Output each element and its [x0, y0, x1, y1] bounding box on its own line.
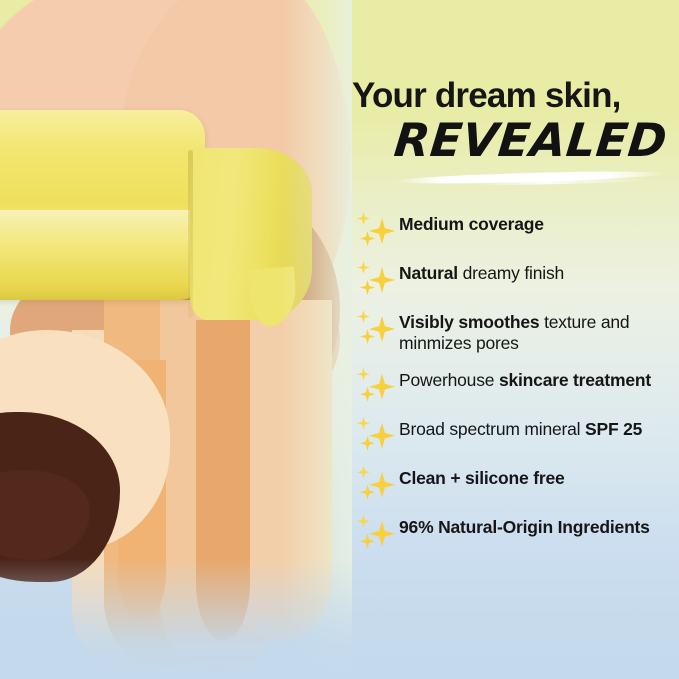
sparkle-icon [355, 517, 399, 551]
sparkle-icon [355, 370, 399, 404]
headline-line-1: Your dream skin, [352, 78, 679, 115]
sparkle-icon [355, 312, 399, 346]
product-tube-body [0, 110, 205, 300]
benefit-text: Clean + silicone free [399, 466, 565, 489]
sparkle-icon [355, 468, 399, 502]
list-item: Clean + silicone free [355, 466, 679, 502]
photo-bottom-fade [0, 559, 352, 679]
benefit-text: 96% Natural-Origin Ingredients [399, 515, 650, 538]
product-tube-highlight [0, 210, 205, 244]
product-cap-seam [188, 150, 193, 318]
benefit-regular: Broad spectrum mineral [399, 419, 585, 439]
product-marketing-image: Your dream skin, REVEALED Medium coverag… [0, 0, 679, 679]
headline-line-2: REVEALED [350, 117, 679, 163]
list-item: Medium coverage [355, 212, 679, 248]
benefit-text: Visibly smoothes texture and minmizes po… [399, 310, 679, 355]
benefit-bold: SPF 25 [585, 419, 642, 439]
list-item: Visibly smoothes texture and minmizes po… [355, 310, 679, 355]
benefit-regular: Powerhouse [399, 370, 499, 390]
product-photo [0, 0, 352, 679]
headline-line-2-wrap: REVEALED [352, 117, 679, 179]
headline-block: Your dream skin, REVEALED [352, 78, 679, 179]
benefit-bold: Medium coverage [399, 214, 544, 234]
benefit-bold: Clean + silicone free [399, 468, 565, 488]
benefit-text: Natural dreamy finish [399, 261, 564, 284]
benefit-bold: 96% Natural-Origin Ingredients [399, 517, 650, 537]
list-item: Powerhouse skincare treatment [355, 368, 679, 404]
list-item: 96% Natural-Origin Ingredients [355, 515, 679, 551]
sparkle-icon [355, 263, 399, 297]
copy-column: Your dream skin, REVEALED Medium coverag… [352, 0, 679, 679]
sparkle-icon [355, 419, 399, 453]
benefit-text: Medium coverage [399, 212, 544, 235]
sparkle-icon [355, 214, 399, 248]
list-item: Natural dreamy finish [355, 261, 679, 297]
benefit-regular: dreamy finish [458, 263, 564, 283]
benefit-text: Powerhouse skincare treatment [399, 368, 651, 391]
benefit-bold: Visibly smoothes [399, 312, 539, 332]
benefit-bold: skincare treatment [499, 370, 651, 390]
benefit-bold: Natural [399, 263, 458, 283]
benefit-text: Broad spectrum mineral SPF 25 [399, 417, 642, 440]
list-item: Broad spectrum mineral SPF 25 [355, 417, 679, 453]
benefit-list: Medium coverage Natural dreamy finish Vi… [355, 212, 679, 564]
